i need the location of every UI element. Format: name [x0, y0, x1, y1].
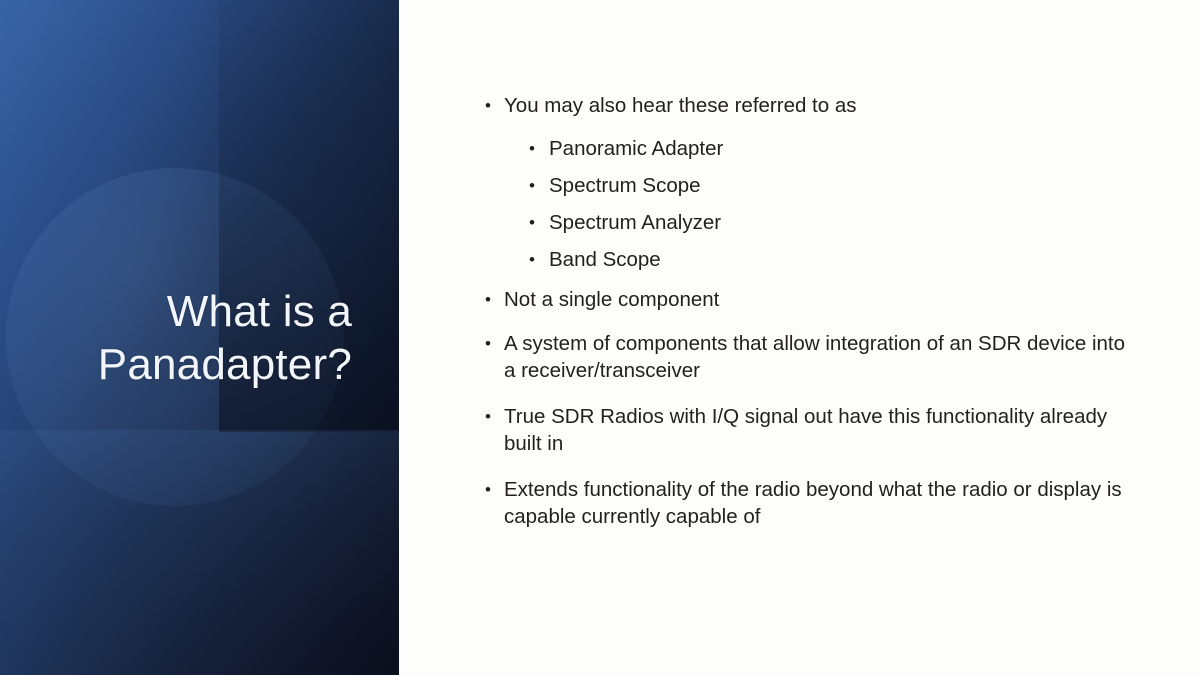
bullet-item: You may also hear these referred to as [479, 92, 1139, 119]
title-line-2: Panadapter? [98, 338, 352, 391]
sub-bullet-item: Band Scope [479, 243, 1139, 276]
bullet-item: Extends functionality of the radio beyon… [479, 476, 1139, 530]
sub-bullet-item: Spectrum Analyzer [479, 206, 1139, 239]
bullet-item: A system of components that allow integr… [479, 330, 1139, 384]
sub-bullet-item: Spectrum Scope [479, 169, 1139, 202]
sub-bullet-item: Panoramic Adapter [479, 132, 1139, 165]
sub-bullet-list: Panoramic Adapter Spectrum Scope Spectru… [479, 132, 1139, 276]
slide-title: What is a Panadapter? [0, 0, 352, 675]
slide: What is a Panadapter? You may also hear … [0, 0, 1200, 675]
content-area: You may also hear these referred to as P… [399, 0, 1200, 675]
bullet-item: Not a single component [479, 286, 1139, 313]
title-panel: What is a Panadapter? [0, 0, 399, 675]
title-line-1: What is a [167, 285, 352, 338]
bullet-list: You may also hear these referred to as P… [479, 92, 1139, 549]
bullet-item: True SDR Radios with I/Q signal out have… [479, 403, 1139, 457]
